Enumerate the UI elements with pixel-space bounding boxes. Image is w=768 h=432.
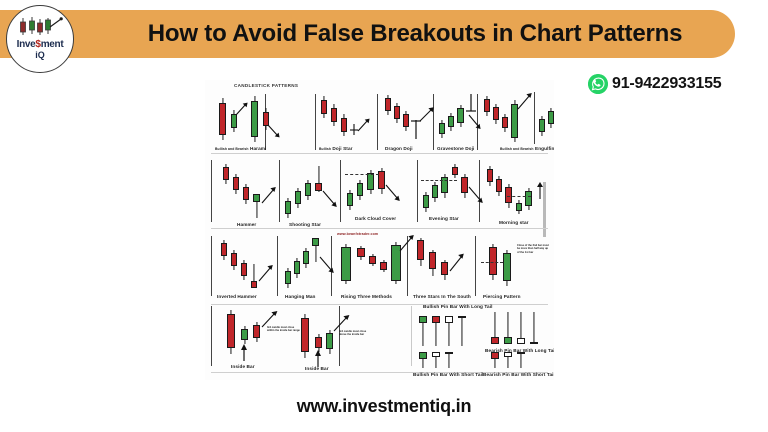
pattern-label: Harami xyxy=(250,146,267,151)
page-title: How to Avoid False Breakouts in Chart Pa… xyxy=(105,10,725,58)
cell-divider xyxy=(340,160,341,222)
bearish-arrow-icon xyxy=(319,256,335,274)
brand-logo[interactable]: Inve$ment iQ xyxy=(6,5,74,73)
cell-divider xyxy=(211,160,212,222)
row-divider xyxy=(211,153,548,154)
contact-phone-block[interactable]: 91-9422933155 xyxy=(588,74,722,94)
row-divider xyxy=(211,228,548,229)
pattern-label: Bearish Pin Bar With Short Tail xyxy=(483,372,554,377)
bearish-arrow-icon xyxy=(385,184,401,202)
logo-candlestick-icon xyxy=(17,17,63,39)
candlestick-patterns-infographic: CANDLESTICK PATTERNS Bullish and Bearish… xyxy=(205,80,554,380)
pattern-label: Rising Three Methods xyxy=(341,294,392,299)
infographic-caption: CANDLESTICK PATTERNS xyxy=(234,83,298,88)
bearish-arrow-icon xyxy=(468,114,482,130)
bullish-arrow-icon xyxy=(535,182,547,200)
cell-divider xyxy=(277,236,278,296)
bullish-arrow-icon xyxy=(261,186,277,204)
logo-subtext: iQ xyxy=(35,50,45,61)
support-dashed-line xyxy=(507,196,531,197)
row-divider xyxy=(211,304,548,305)
cell-divider xyxy=(279,160,280,222)
whatsapp-icon[interactable] xyxy=(588,74,608,94)
source-watermark: www.beanfxtrader.com xyxy=(337,232,378,236)
cell-divider xyxy=(377,94,378,150)
bullish-arrow-icon xyxy=(357,118,371,132)
resistance-dashed-line xyxy=(421,180,457,181)
pattern-label: Bullish Pin Bar With Short Tail xyxy=(413,372,483,377)
pattern-label: Hanging Man xyxy=(285,294,316,299)
pattern-label: Engulfing xyxy=(535,146,554,151)
cell-divider xyxy=(411,306,412,366)
pattern-label: Three Stars In The South xyxy=(413,294,471,299)
inside-bar-note: 3rd candle must close within the inside … xyxy=(267,326,301,333)
phone-number-text: 91-9422933155 xyxy=(612,75,722,93)
pattern-label-prefix: Bullish xyxy=(319,147,331,151)
bullish-arrow-icon xyxy=(419,106,435,122)
pattern-label: Gravestone Doji xyxy=(437,146,474,151)
gravestone-doji-icon xyxy=(465,94,477,112)
pattern-label: Doji Star xyxy=(332,146,352,151)
pointer-up-arrow-icon xyxy=(237,344,251,362)
inside-bar-note: 3rd candle must close above the inside b… xyxy=(339,330,373,337)
pattern-label: Hammer xyxy=(237,222,256,227)
pattern-label: Shooting Star xyxy=(289,222,321,227)
cell-divider xyxy=(417,160,418,222)
pattern-label-prefix: Bullish and Bearish xyxy=(215,147,249,151)
pattern-label: Inside Bar xyxy=(231,364,255,369)
logo-wordmark: Inve$ment xyxy=(17,40,64,50)
bullish-arrow-icon xyxy=(235,102,249,116)
piercing-note: Close of the 2nd bar must be more than h… xyxy=(517,244,551,254)
bullish-arrow-icon xyxy=(449,252,465,272)
cell-divider xyxy=(475,236,476,296)
resistance-dashed-line xyxy=(345,174,379,175)
cell-divider xyxy=(315,94,316,150)
bullish-arrow-icon xyxy=(258,264,274,282)
pattern-label: Morning star xyxy=(499,220,529,225)
pattern-label: Inside Bar xyxy=(305,366,329,371)
cell-divider xyxy=(433,94,434,150)
cell-divider xyxy=(211,236,212,296)
pattern-label-prefix: Bullish and Bearish xyxy=(500,147,534,151)
dragonfly-doji-icon xyxy=(410,120,422,140)
bullish-arrow-icon xyxy=(399,234,415,252)
bullish-arrow-icon xyxy=(517,92,533,110)
pattern-label: Piercing Pattern xyxy=(483,294,521,299)
cell-divider xyxy=(211,306,212,366)
pattern-label: Inverted Hammer xyxy=(217,294,257,299)
bearish-arrow-icon xyxy=(322,190,338,208)
cell-divider xyxy=(534,92,535,144)
midpoint-dashed-line xyxy=(481,262,503,263)
bearish-arrow-icon xyxy=(468,186,484,204)
pattern-label: Bullish Pin Bar With Long Tail xyxy=(423,304,493,309)
footer-website-url[interactable]: www.investmentiq.in xyxy=(0,396,768,417)
pattern-label: Evening Star xyxy=(429,216,459,221)
pattern-label: Dragon Doji xyxy=(385,146,413,151)
pattern-label: Dark Cloud Cover xyxy=(355,216,396,221)
bearish-arrow-icon xyxy=(267,124,281,138)
